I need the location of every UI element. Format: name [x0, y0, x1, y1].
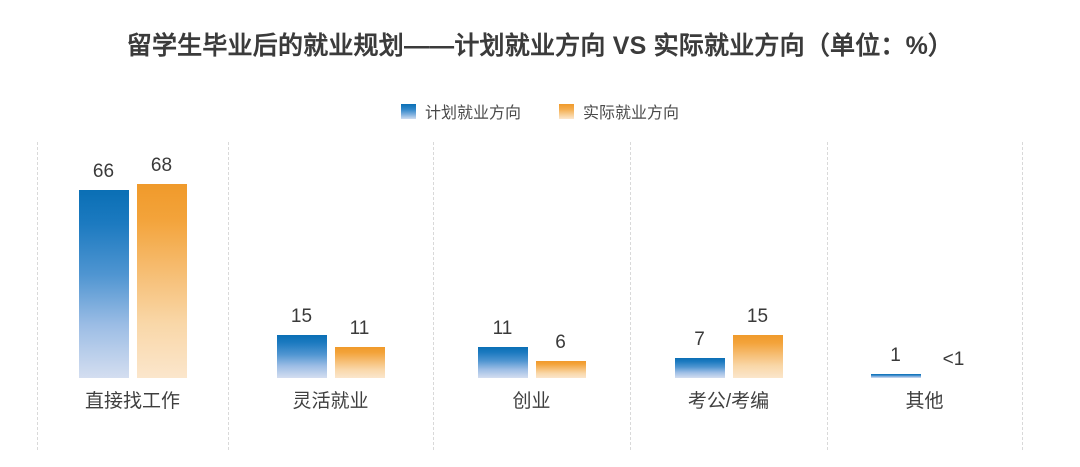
- plan-swatch-icon: [401, 104, 416, 119]
- bar-rect-actual[interactable]: [137, 184, 187, 378]
- category-label: 其他: [827, 386, 1022, 413]
- bar-value-label: 1: [890, 346, 901, 365]
- bar-rect-plan[interactable]: [478, 347, 528, 378]
- bar-group-bars: 1511: [228, 142, 433, 378]
- category-label: 考公/考编: [630, 386, 827, 413]
- bar-plan[interactable]: 66: [79, 142, 129, 378]
- bar-group: 715考公/考编: [630, 142, 827, 450]
- bar-rect-plan[interactable]: [277, 335, 327, 378]
- bar-value-label: 66: [93, 162, 114, 181]
- bar-group: 116创业: [433, 142, 630, 450]
- bar-value-label: 11: [493, 319, 513, 338]
- bar-value-label: 68: [151, 156, 172, 175]
- bar-rect-plan[interactable]: [675, 358, 725, 378]
- bar-group: 6668直接找工作: [37, 142, 228, 450]
- legend-item-actual[interactable]: 实际就业方向: [559, 99, 679, 123]
- bar-value-label: 11: [350, 319, 370, 338]
- page-title: 留学生毕业后的就业规划——计划就业方向 VS 实际就业方向（单位：%）: [0, 26, 1080, 62]
- category-label: 直接找工作: [37, 386, 228, 413]
- bar-value-label: 15: [747, 307, 768, 326]
- bar-actual[interactable]: 6: [536, 142, 586, 378]
- bar-value-label: 6: [555, 333, 566, 352]
- category-label: 灵活就业: [228, 386, 433, 413]
- bar-group-bars: 6668: [37, 142, 228, 378]
- bar-group-bars: 1<1: [827, 142, 1022, 378]
- plot-area: 6668直接找工作1511灵活就业116创业715考公/考编1<1其他: [37, 142, 1022, 450]
- bar-value-label: 15: [291, 307, 312, 326]
- category-separator: [1022, 142, 1023, 450]
- bar-actual[interactable]: 68: [137, 142, 187, 378]
- bar-group: 1511灵活就业: [228, 142, 433, 450]
- bar-rect-plan[interactable]: [79, 190, 129, 378]
- legend-item-label: 实际就业方向: [583, 99, 679, 123]
- bar-plan[interactable]: 15: [277, 142, 327, 378]
- bar-actual[interactable]: 11: [335, 142, 385, 378]
- category-label: 创业: [433, 386, 630, 413]
- legend-item-label: 计划就业方向: [425, 99, 521, 123]
- bar-actual[interactable]: <1: [929, 142, 979, 378]
- bar-value-label: 7: [694, 330, 705, 349]
- legend-item-plan[interactable]: 计划就业方向: [401, 99, 521, 123]
- bar-plan[interactable]: 7: [675, 142, 725, 378]
- bar-actual[interactable]: 15: [733, 142, 783, 378]
- bar-rect-actual[interactable]: [733, 335, 783, 378]
- bar-value-label: <1: [943, 350, 965, 369]
- actual-swatch-icon: [559, 104, 574, 119]
- bar-group-bars: 116: [433, 142, 630, 378]
- bar-rect-plan[interactable]: [871, 374, 921, 378]
- bar-rect-actual[interactable]: [536, 361, 586, 378]
- chart-legend: 计划就业方向 实际就业方向: [0, 99, 1080, 123]
- bar-plan[interactable]: 1: [871, 142, 921, 378]
- bar-group-bars: 715: [630, 142, 827, 378]
- bar-group: 1<1其他: [827, 142, 1022, 450]
- bar-plan[interactable]: 11: [478, 142, 528, 378]
- bar-rect-actual[interactable]: [335, 347, 385, 378]
